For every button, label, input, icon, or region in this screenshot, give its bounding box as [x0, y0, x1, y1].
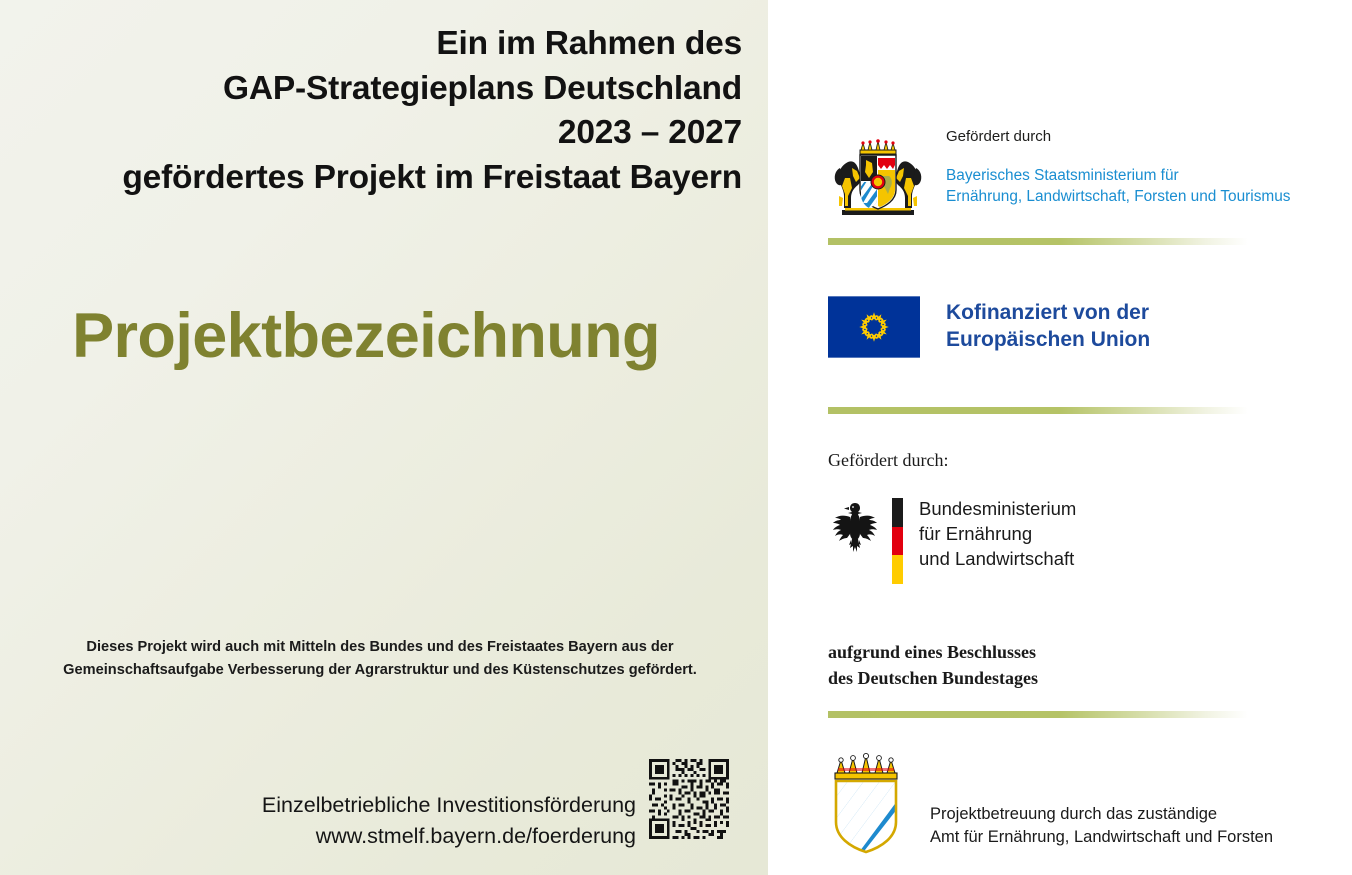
- left-panel: Ein im Rahmen des GAP-Strategieplans Deu…: [0, 0, 768, 875]
- bundestag-line-1: aufgrund eines Beschlusses: [828, 640, 1038, 666]
- fineprint-line-1: Dieses Projekt wird auch mit Mitteln des…: [24, 636, 736, 659]
- eu-block: Kofinanziert von der Europäischen Union: [828, 296, 1150, 358]
- headline-line-1: Ein im Rahmen des: [30, 22, 742, 67]
- bmel-name-line-1: Bundesministerium: [919, 497, 1076, 522]
- fineprint: Dieses Projekt wird auch mit Mitteln des…: [24, 636, 736, 681]
- eu-text-line-2: Europäischen Union: [946, 327, 1150, 354]
- footer-text: Einzelbetriebliche Investitionsförderung…: [24, 790, 636, 851]
- fineprint-line-2: Gemeinschaftsaufgabe Verbesserung der Ag…: [24, 659, 736, 682]
- aelf-text: Projektbetreuung durch das zuständige Am…: [930, 759, 1273, 850]
- aelf-line-2: Amt für Ernährung, Landwirtschaft und Fo…: [930, 826, 1273, 849]
- bavarian-lozenge-shield-icon: [828, 752, 904, 856]
- headline-line-3: 2023 – 2027: [30, 111, 742, 156]
- footer-programme-name: Einzelbetriebliche Investitionsförderung: [24, 790, 636, 821]
- bmel-ministry-name: Bundesministerium für Ernährung und Land…: [919, 496, 1076, 571]
- headline-line-2: GAP-Strategieplans Deutschland: [30, 67, 742, 112]
- eu-text-line-1: Kofinanziert von der: [946, 300, 1150, 327]
- stmelf-name-line-1: Bayerisches Staatsministerium für: [946, 165, 1290, 186]
- divider-2: [828, 407, 1248, 414]
- divider-3: [828, 711, 1248, 718]
- stmelf-block: Gefördert durch Bayerisches Staatsminist…: [828, 128, 1290, 218]
- aelf-line-1: Projektbetreuung durch das zuständige: [930, 803, 1273, 826]
- bmel-funded-by-label: Gefördert durch:: [828, 450, 948, 471]
- aelf-block: Projektbetreuung durch das zuständige Am…: [828, 752, 1273, 856]
- flag-bar-gold: [892, 555, 903, 584]
- bavarian-state-coat-of-arms-icon: [828, 138, 928, 218]
- footer-url[interactable]: www.stmelf.bayern.de/foerderung: [24, 821, 636, 852]
- eu-cofinanced-text: Kofinanziert von der Europäischen Union: [946, 300, 1150, 354]
- german-flag-bar: [892, 498, 903, 584]
- stmelf-name-line-2: Ernährung, Landwirtschaft, Forsten und T…: [946, 186, 1290, 207]
- qr-code[interactable]: [646, 756, 732, 842]
- flag-bar-red: [892, 527, 903, 556]
- stmelf-funded-by-label: Gefördert durch: [946, 128, 1290, 146]
- stmelf-ministry-name: Bayerisches Staatsministerium für Ernähr…: [946, 165, 1290, 208]
- funding-sign-board: Ein im Rahmen des GAP-Strategieplans Deu…: [0, 0, 1352, 875]
- flag-bar-black: [892, 498, 903, 527]
- right-column: Gefördert durch Bayerisches Staatsminist…: [768, 0, 1352, 875]
- stmelf-text: Gefördert durch Bayerisches Staatsminist…: [946, 128, 1290, 208]
- bundestag-line-2: des Deutschen Bundestages: [828, 666, 1038, 692]
- european-union-flag-icon: [828, 296, 920, 358]
- bundesadler-icon: [828, 500, 882, 556]
- bmel-name-line-3: und Landwirtschaft: [919, 547, 1076, 572]
- headline: Ein im Rahmen des GAP-Strategieplans Deu…: [30, 22, 742, 200]
- bundestag-note: aufgrund eines Beschlusses des Deutschen…: [828, 640, 1038, 691]
- divider-1: [828, 238, 1248, 245]
- headline-line-4: gefördertes Projekt im Freistaat Bayern: [30, 156, 742, 201]
- qr-code-icon: [646, 756, 732, 842]
- bmel-name-line-2: für Ernährung: [919, 522, 1076, 547]
- project-title: Projektbezeichnung: [0, 300, 732, 372]
- bmel-block: Bundesministerium für Ernährung und Land…: [828, 496, 1076, 584]
